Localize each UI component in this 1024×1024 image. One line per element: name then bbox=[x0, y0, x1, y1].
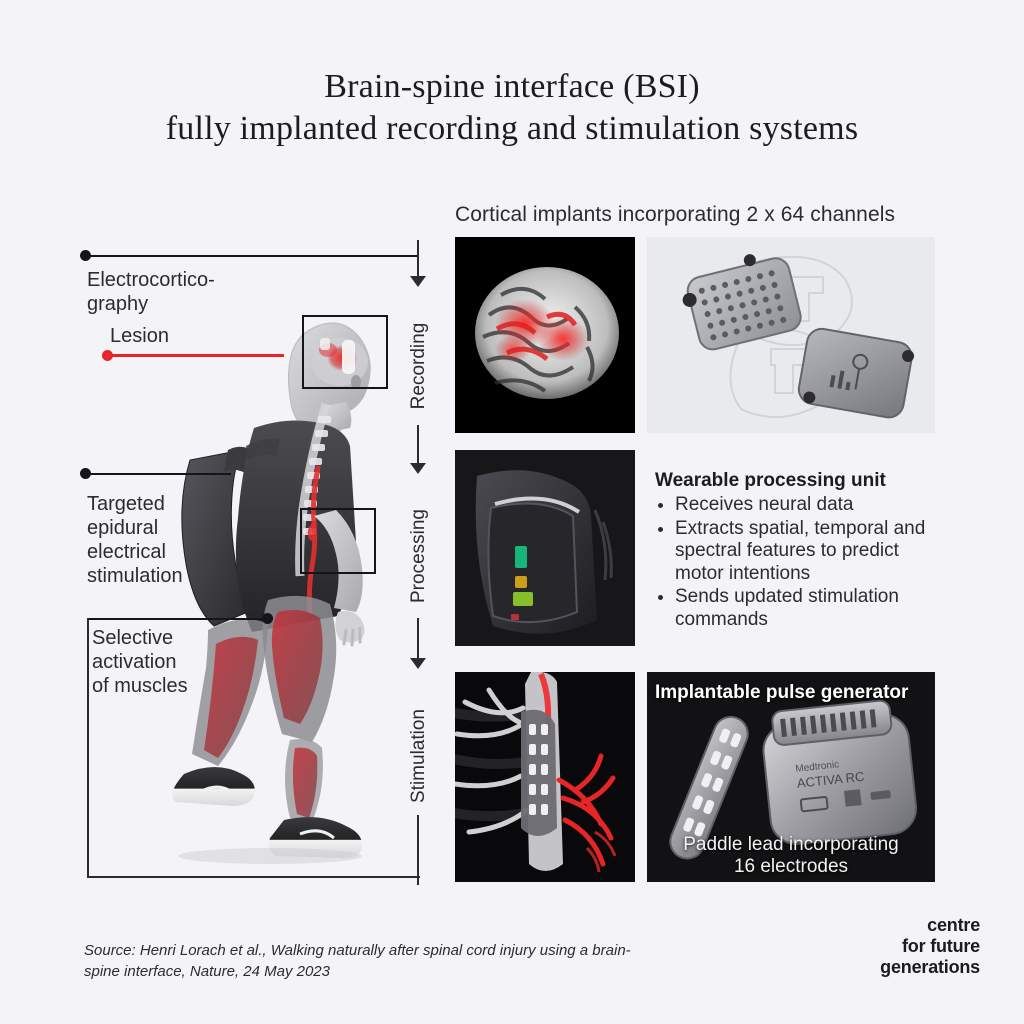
wearable-unit-photo-svg bbox=[455, 450, 635, 646]
flow-line-top bbox=[417, 240, 419, 278]
brain-activation-svg bbox=[455, 237, 635, 433]
flow-arrow-stimulation bbox=[410, 658, 426, 669]
head-callout-box bbox=[302, 315, 388, 389]
page-title: Brain-spine interface (BSI) fully implan… bbox=[0, 66, 1024, 150]
walking-figure-svg bbox=[150, 300, 420, 920]
spinal-lead-svg bbox=[455, 672, 635, 882]
panel-brain-activation bbox=[455, 237, 635, 433]
list-item: Sends updated stimulation commands bbox=[675, 586, 945, 631]
ipg-caption: Paddle lead incorporating 16 electrodes bbox=[661, 834, 921, 878]
callout-label-tes: Targeted epidural electrical stimulation bbox=[87, 492, 183, 588]
page-title-line2: fully implanted recording and stimulatio… bbox=[0, 108, 1024, 150]
page-title-line1: Brain-spine interface (BSI) bbox=[0, 66, 1024, 108]
spine-callout-box bbox=[300, 508, 376, 574]
muscles-leader-line bbox=[87, 618, 265, 620]
callout-label-muscles: Selective activation of muscles bbox=[92, 626, 188, 698]
wearable-processing-unit-block: Wearable processing unit Receives neural… bbox=[655, 470, 945, 632]
panel-spinal-lead bbox=[455, 672, 635, 882]
panel-implantable-pulse-generator: Medtronic ACTIVA RC Implantable pulse ge… bbox=[647, 672, 935, 882]
cortical-implant-devices-svg bbox=[647, 237, 935, 433]
ipg-title: Implantable pulse generator bbox=[655, 682, 927, 704]
infographic-root: Brain-spine interface (BSI) fully implan… bbox=[0, 0, 1024, 1024]
bracket-bottom-horizontal bbox=[87, 876, 420, 878]
panel-wearable-unit-photo bbox=[455, 450, 635, 646]
callout-label-ecog: Electrocortico- graphy bbox=[87, 268, 215, 316]
walking-figure-illustration bbox=[150, 300, 420, 920]
wearable-unit-heading: Wearable processing unit bbox=[655, 470, 945, 492]
flow-column: Recording Processing Stimulation bbox=[398, 240, 438, 885]
wearable-unit-bullets: Receives neural data Extracts spatial, t… bbox=[655, 494, 945, 631]
tes-leader-line bbox=[85, 473, 231, 475]
source-citation: Source: Henri Lorach et al., Walking nat… bbox=[84, 940, 644, 982]
flow-line-bottom bbox=[417, 815, 419, 885]
flow-line-processing-stimulation bbox=[417, 618, 419, 660]
flow-label-processing: Processing bbox=[408, 491, 430, 621]
flow-arrow-processing bbox=[410, 463, 426, 474]
list-item: Receives neural data bbox=[675, 494, 945, 517]
logo-line-3: generations bbox=[760, 957, 980, 978]
bracket-left-vertical bbox=[87, 618, 89, 878]
flow-label-recording: Recording bbox=[408, 301, 430, 431]
logo-line-2: for future bbox=[760, 936, 980, 957]
flow-line-recording-processing bbox=[417, 425, 419, 465]
left-diagram: Electrocortico- graphy Lesion Targeted e… bbox=[80, 240, 420, 880]
panel-cortical-implant-devices bbox=[647, 237, 935, 433]
section-heading-cortical-implants: Cortical implants incorporating 2 x 64 c… bbox=[455, 203, 895, 227]
flow-arrow-recording bbox=[410, 276, 426, 287]
callout-label-lesion: Lesion bbox=[110, 324, 169, 348]
logo-line-1: centre bbox=[760, 915, 980, 936]
lesion-leader-line bbox=[108, 354, 284, 357]
list-item: Extracts spatial, temporal and spectral … bbox=[675, 518, 945, 586]
organisation-logo: centre for future generations bbox=[760, 915, 980, 978]
ecog-leader-line bbox=[85, 255, 418, 257]
flow-label-stimulation: Stimulation bbox=[408, 691, 430, 821]
